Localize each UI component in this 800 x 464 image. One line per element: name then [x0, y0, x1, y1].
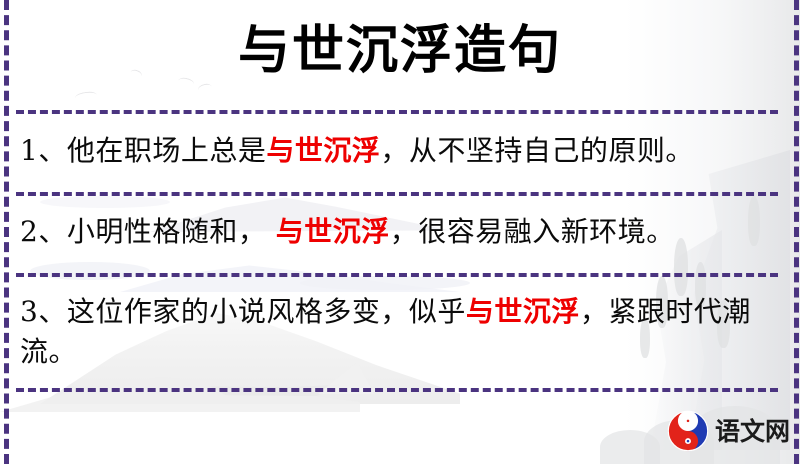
example-sentence-2: 2、小明性格随和， 与世沉浮，很容易融入新环境。: [20, 212, 760, 252]
sentence-text-before: 这位作家的小说风格多变，似乎: [67, 295, 466, 328]
watermark-cloud: [300, 276, 470, 290]
keyword-highlight: 与世沉浮: [266, 134, 380, 167]
dashed-divider-2: [16, 192, 778, 196]
keyword-highlight: 与世沉浮: [276, 215, 390, 248]
watermark-cloud: [40, 196, 170, 208]
slide-canvas: 与世沉浮造句 1、他在职场上总是与世沉浮，从不坚持自己的原则。 2、小明性格随和…: [0, 0, 800, 464]
keyword-highlight: 与世沉浮: [466, 295, 580, 328]
dashed-divider-1: [16, 110, 778, 114]
example-sentence-1: 1、他在职场上总是与世沉浮，从不坚持自己的原则。: [20, 131, 760, 171]
sentence-text-before: 他在职场上总是: [67, 134, 267, 167]
sentence-number: 1、: [20, 134, 67, 167]
sentence-text-after: ，很容易融入新环境。: [390, 215, 675, 248]
dashed-divider-3: [16, 273, 778, 277]
sentence-text-after: ，从不坚持自己的原则。: [380, 134, 694, 167]
logo-text: 语文网: [715, 419, 790, 444]
dashed-divider-4: [16, 388, 778, 392]
page-title: 与世沉浮造句: [0, 22, 800, 79]
watermark-bird: [197, 82, 213, 94]
sentence-number: 3、: [20, 295, 67, 328]
yin-yang-circle-icon: [667, 410, 709, 452]
site-logo[interactable]: 语文网: [667, 410, 790, 452]
watermark-cloud: [30, 262, 150, 280]
sentence-number: 2、: [20, 215, 67, 248]
example-sentence-3: 3、这位作家的小说风格多变，似乎与世沉浮，紧跟时代潮流。: [20, 292, 755, 372]
sentence-text-before: 小明性格随和，: [67, 215, 276, 248]
watermark-bird: [74, 91, 97, 103]
watermark-grass: [600, 430, 660, 464]
